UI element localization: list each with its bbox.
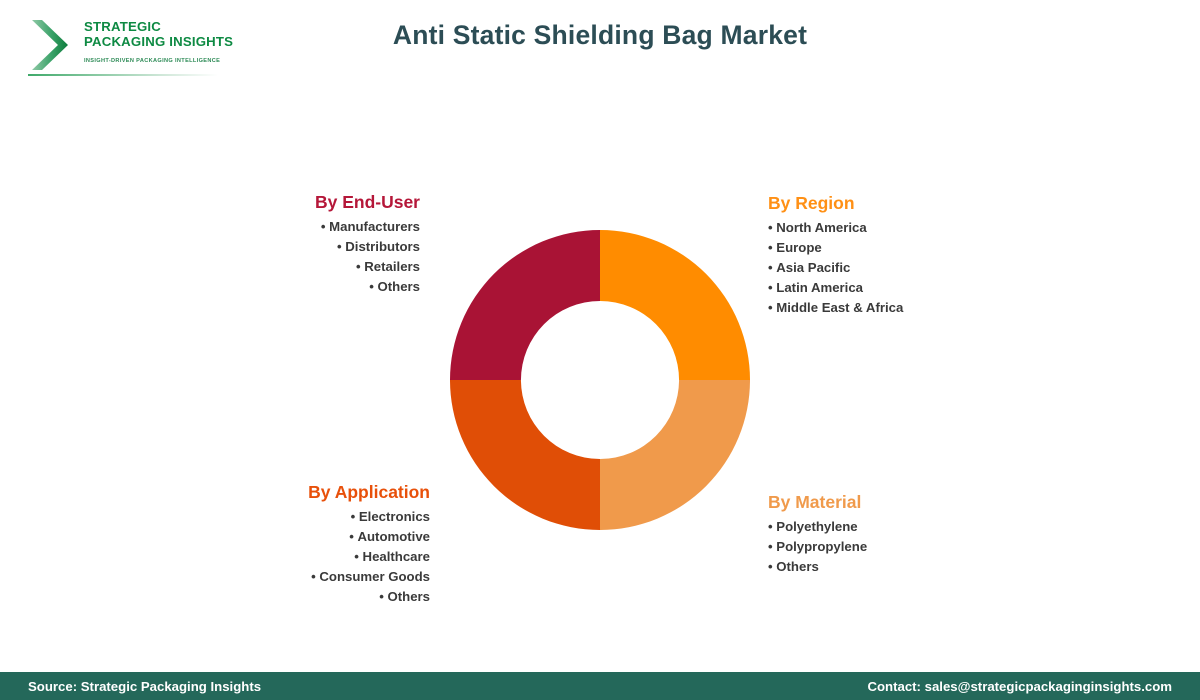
footer-source: Source: Strategic Packaging Insights — [28, 679, 261, 694]
list-item: Polypropylene — [768, 537, 867, 557]
list-item: Others — [315, 277, 420, 297]
list-item: Asia Pacific — [768, 258, 903, 278]
list-item: Retailers — [315, 257, 420, 277]
list-item: Healthcare — [308, 547, 430, 567]
donut-slice-by-region — [600, 230, 750, 380]
list-item: Others — [308, 587, 430, 607]
list-item: Manufacturers — [315, 217, 420, 237]
logo-tagline: INSIGHT-DRIVEN PACKAGING INTELLIGENCE — [84, 58, 216, 64]
category-list-region: North America Europe Asia Pacific Latin … — [768, 218, 903, 318]
list-item: Middle East & Africa — [768, 298, 903, 318]
list-item: Polyethylene — [768, 517, 867, 537]
category-title-application: By Application — [308, 482, 430, 503]
category-title-region: By Region — [768, 193, 903, 214]
category-block-application: By Application Electronics Automotive He… — [308, 482, 430, 607]
page-title: Anti Static Shielding Bag Market — [0, 20, 1200, 51]
category-list-material: Polyethylene Polypropylene Others — [768, 517, 867, 577]
list-item: Automotive — [308, 527, 430, 547]
category-block-material: By Material Polyethylene Polypropylene O… — [768, 492, 867, 577]
category-block-end-user: By End-User Manufacturers Distributors R… — [315, 192, 420, 297]
footer-bar: Source: Strategic Packaging Insights Con… — [0, 672, 1200, 700]
category-title-end-user: By End-User — [315, 192, 420, 213]
donut-chart — [450, 230, 750, 530]
category-title-material: By Material — [768, 492, 867, 513]
list-item: Consumer Goods — [308, 567, 430, 587]
donut-slice-by-application — [450, 380, 600, 530]
category-block-region: By Region North America Europe Asia Paci… — [768, 193, 903, 318]
category-list-application: Electronics Automotive Healthcare Consum… — [308, 507, 430, 607]
logo-divider — [28, 74, 218, 76]
footer-contact: Contact: sales@strategicpackaginginsight… — [867, 679, 1172, 694]
list-item: Latin America — [768, 278, 903, 298]
list-item: Distributors — [315, 237, 420, 257]
donut-slice-by-end-user — [450, 230, 600, 380]
donut-slice-by-material — [600, 380, 750, 530]
list-item: Others — [768, 557, 867, 577]
list-item: North America — [768, 218, 903, 238]
category-list-end-user: Manufacturers Distributors Retailers Oth… — [315, 217, 420, 297]
list-item: Europe — [768, 238, 903, 258]
list-item: Electronics — [308, 507, 430, 527]
